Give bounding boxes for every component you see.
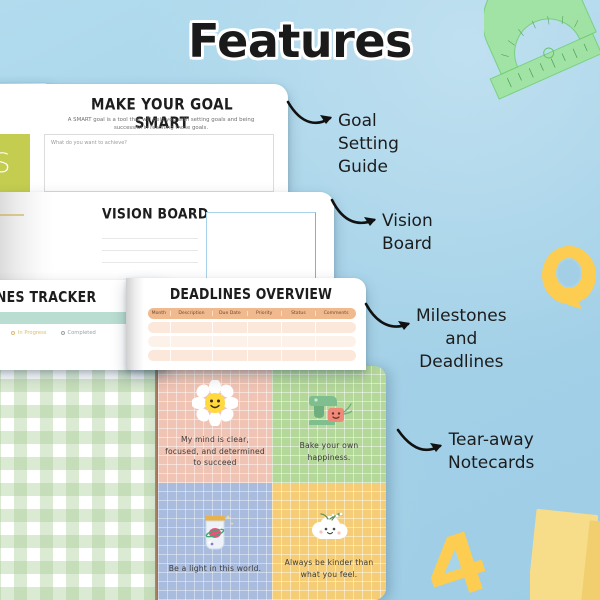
- table-header-row: Month Description Due Date Priority Stat…: [148, 308, 356, 319]
- status-option-in-progress[interactable]: In Progress: [11, 330, 47, 336]
- yellow-letter-q: [538, 243, 600, 315]
- notecard-1[interactable]: My mind is clear, focused, and determine…: [158, 366, 272, 483]
- text-line: [102, 262, 198, 263]
- column-header-due-date: Due Date: [213, 311, 247, 316]
- status-label: In Progress: [18, 330, 47, 336]
- deadlines-table: Month Description Due Date Priority Stat…: [148, 308, 356, 361]
- stand-mixer-icon: [306, 386, 352, 432]
- smart-letter-block: S Specific: [0, 134, 30, 192]
- goal-field-placeholder: What do you want to achieve?: [51, 140, 127, 146]
- tear-away-notecards[interactable]: My mind is clear, focused, and determine…: [158, 366, 386, 600]
- curved-arrow-icon: [396, 424, 452, 458]
- vision-board-box[interactable]: [206, 212, 316, 280]
- status-label: Completed: [68, 330, 96, 336]
- annotation-label: Vision Board: [382, 210, 433, 256]
- column-header-priority: Priority: [248, 311, 282, 316]
- curved-arrow-icon: [286, 96, 342, 130]
- status-option-completed[interactable]: Completed: [61, 330, 96, 336]
- notecard-3[interactable]: Be a light in this world.: [158, 483, 272, 600]
- smart-letter: S: [0, 150, 11, 177]
- column-header-description: Description: [171, 311, 214, 316]
- annotation-label: Goal Setting Guide: [338, 110, 399, 179]
- notecard-2[interactable]: Bake your own happiness.: [272, 366, 386, 483]
- curved-arrow-icon: [330, 196, 386, 230]
- goal-page-subtitle: A SMART goal is a tool that will help yo…: [56, 116, 266, 133]
- annotation-milestones-deadlines: Milestones and Deadlines: [364, 300, 420, 338]
- happy-cloud-icon: [306, 503, 352, 549]
- column-header-comments: Comments: [316, 311, 356, 316]
- page-gutter: [0, 192, 54, 288]
- annotation-goal-setting: Goal Setting Guide: [286, 96, 342, 134]
- yellow-envelope: [530, 505, 600, 600]
- radio-icon: [61, 331, 65, 335]
- poster-canvas: Features adline MAKE YOUR GOAL SMART A S…: [0, 0, 600, 600]
- notecard-text: Always be kinder than what you feel.: [278, 557, 380, 580]
- page-title: Features: [0, 14, 600, 68]
- annotation-tear-away-notecards: Tear-away Notecards: [396, 424, 452, 462]
- spine-accent-line: [0, 214, 24, 216]
- annotation-label: Milestones and Deadlines: [416, 305, 507, 374]
- column-header-status: Status: [282, 311, 316, 316]
- goal-answer-field[interactable]: What do you want to achieve?: [44, 134, 274, 192]
- text-line: [102, 238, 198, 239]
- page-deadlines-overview[interactable]: DEADLINES OVERVIEW Month Description Due…: [126, 278, 366, 370]
- smart-row: S Specific What do you want to achieve?: [0, 134, 280, 192]
- green-gingham-page[interactable]: [0, 366, 160, 600]
- jar-with-planet-icon: [192, 509, 238, 555]
- page-gutter: [126, 278, 144, 370]
- annotation-label: Tear-away Notecards: [448, 429, 534, 475]
- deadlines-page-title: DEADLINES OVERVIEW: [144, 285, 358, 303]
- notecard-text: Bake your own happiness.: [278, 440, 380, 463]
- table-row[interactable]: [148, 322, 356, 333]
- vision-page-title: VISION BOARD: [102, 205, 209, 222]
- notecard-4[interactable]: Always be kinder than what you feel.: [272, 483, 386, 600]
- daisy-flower-icon: [192, 380, 238, 426]
- table-row[interactable]: [148, 350, 356, 361]
- column-header-month: Month: [148, 311, 171, 316]
- table-row[interactable]: [148, 336, 356, 347]
- yellow-number-4: [420, 530, 490, 600]
- annotation-vision-board: Vision Board: [330, 196, 386, 234]
- notecard-text: Be a light in this world.: [169, 563, 262, 574]
- text-line: [102, 250, 198, 251]
- radio-icon: [11, 331, 15, 335]
- page-goal-setting[interactable]: MAKE YOUR GOAL SMART A SMART goal is a t…: [0, 84, 288, 192]
- milestones-page-title: ESTONES TRACKER: [0, 288, 96, 306]
- page-vision-board[interactable]: VISION BOARD: [0, 192, 334, 288]
- curved-arrow-icon: [364, 300, 420, 334]
- notecard-text: My mind is clear, focused, and determine…: [164, 434, 266, 468]
